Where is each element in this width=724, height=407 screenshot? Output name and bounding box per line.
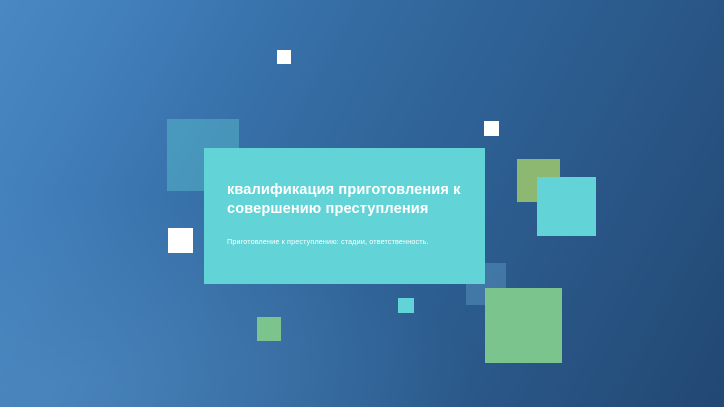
slide-title: квалификация приготовления к совершению … bbox=[227, 181, 472, 219]
slide-subtitle: Приготовление к преступлению: стадии, от… bbox=[227, 236, 477, 247]
square-white-left bbox=[168, 228, 193, 253]
square-white-top bbox=[277, 50, 291, 64]
title-card: квалификация приготовления к совершению … bbox=[204, 148, 485, 284]
square-cyan-small bbox=[398, 298, 414, 313]
square-cyan-large bbox=[537, 177, 596, 236]
square-green-large bbox=[485, 288, 562, 363]
square-green-small bbox=[257, 317, 281, 341]
square-white-right bbox=[484, 121, 499, 136]
presentation-slide: квалификация приготовления к совершению … bbox=[0, 0, 724, 407]
